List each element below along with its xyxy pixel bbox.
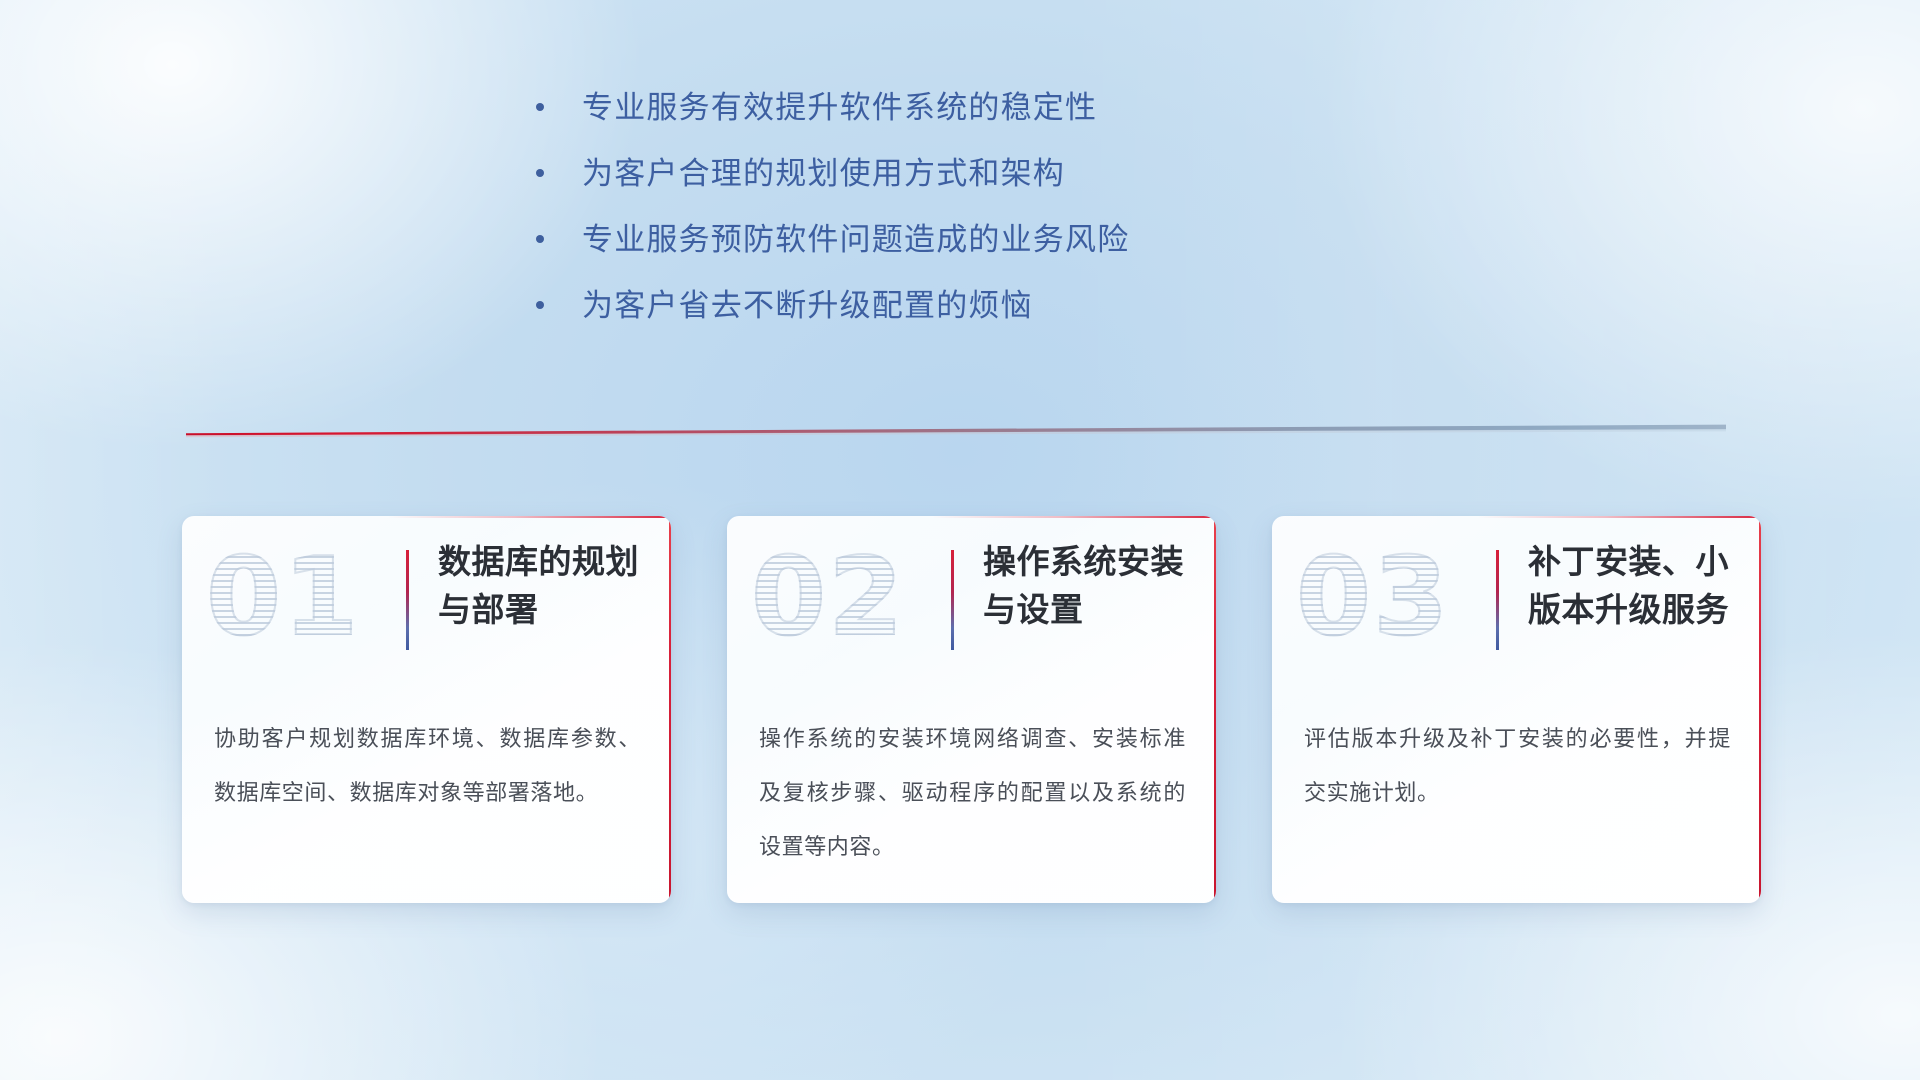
slide-canvas: 专业服务有效提升软件系统的稳定性 为客户合理的规划使用方式和架构 专业服务预防软… bbox=[0, 0, 1920, 1080]
card-number-watermark: 03 bbox=[1296, 538, 1464, 658]
card-header: 01 数据库的规划与部署 bbox=[182, 516, 671, 692]
card-description: 评估版本升级及补丁安装的必要性，并提交实施计划。 bbox=[1304, 712, 1731, 820]
card-number-label: 02 bbox=[751, 535, 905, 660]
bullet-dot-icon bbox=[536, 235, 544, 243]
bullet-label: 专业服务预防软件问题造成的业务风险 bbox=[582, 220, 1129, 260]
bullet-label: 专业服务有效提升软件系统的稳定性 bbox=[582, 88, 1097, 128]
list-item: 专业服务有效提升软件系统的稳定性 bbox=[536, 88, 1296, 140]
card-number-watermark: 01 bbox=[206, 538, 374, 658]
benefits-bullet-list: 专业服务有效提升软件系统的稳定性 为客户合理的规划使用方式和架构 专业服务预防软… bbox=[536, 88, 1296, 352]
list-item: 为客户合理的规划使用方式和架构 bbox=[536, 154, 1296, 206]
card-number-label: 03 bbox=[1296, 535, 1450, 660]
card-number-watermark: 02 bbox=[751, 538, 919, 658]
bullet-dot-icon bbox=[536, 169, 544, 177]
gradient-divider bbox=[186, 424, 1726, 438]
list-item: 为客户省去不断升级配置的烦恼 bbox=[536, 286, 1296, 338]
bullet-dot-icon bbox=[536, 301, 544, 309]
service-card[interactable]: 01 数据库的规划与部署 协助客户规划数据库环境、数据库参数、数据库空间、数据库… bbox=[182, 516, 671, 903]
service-card-list: 01 数据库的规划与部署 协助客户规划数据库环境、数据库参数、数据库空间、数据库… bbox=[182, 516, 1762, 916]
service-card[interactable]: 03 补丁安装、小版本升级服务 评估版本升级及补丁安装的必要性，并提交实施计划。 bbox=[1272, 516, 1761, 903]
list-item: 专业服务预防软件问题造成的业务风险 bbox=[536, 220, 1296, 272]
card-title: 操作系统安装与设置 bbox=[983, 538, 1199, 634]
card-description: 操作系统的安装环境网络调查、安装标准及复核步骤、驱动程序的配置以及系统的设置等内… bbox=[759, 712, 1186, 874]
card-title-rule bbox=[1496, 550, 1499, 650]
card-header: 02 操作系统安装与设置 bbox=[727, 516, 1216, 692]
service-card[interactable]: 02 操作系统安装与设置 操作系统的安装环境网络调查、安装标准及复核步骤、驱动程… bbox=[727, 516, 1216, 903]
card-description: 协助客户规划数据库环境、数据库参数、数据库空间、数据库对象等部署落地。 bbox=[214, 712, 641, 820]
divider-shape-icon bbox=[186, 424, 1726, 438]
card-header: 03 补丁安装、小版本升级服务 bbox=[1272, 516, 1761, 692]
card-title: 补丁安装、小版本升级服务 bbox=[1528, 538, 1744, 634]
card-title-rule bbox=[406, 550, 409, 650]
bullet-label: 为客户合理的规划使用方式和架构 bbox=[582, 154, 1065, 194]
bullet-label: 为客户省去不断升级配置的烦恼 bbox=[582, 286, 1033, 326]
card-title: 数据库的规划与部署 bbox=[438, 538, 654, 634]
card-title-rule bbox=[951, 550, 954, 650]
card-number-label: 01 bbox=[206, 535, 360, 660]
bullet-dot-icon bbox=[536, 103, 544, 111]
